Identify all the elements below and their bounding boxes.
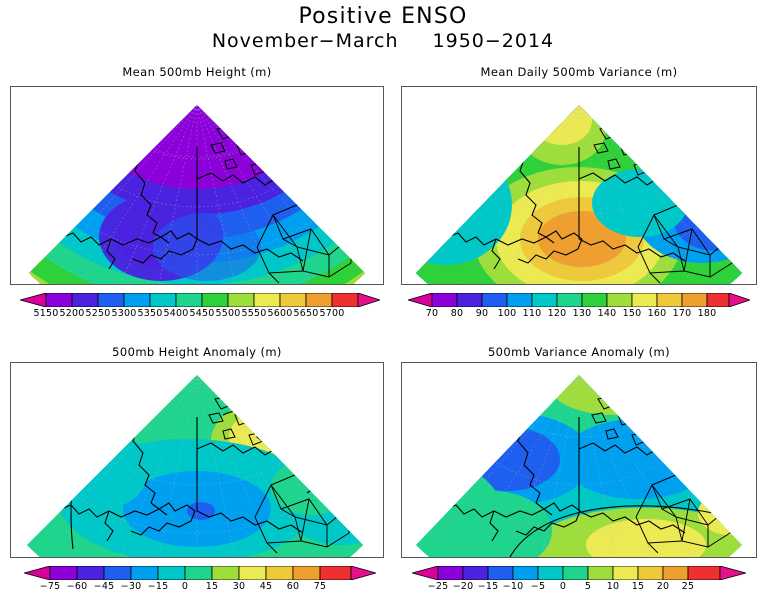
panel-title-mean-daily-500mb-variance: Mean Daily 500mb Variance (m) (401, 65, 757, 79)
cbar-tick: 140 (598, 308, 617, 319)
cbar-tick: 15 (632, 581, 645, 592)
cbar-tick: 60 (287, 581, 300, 592)
cbar-tick: 15 (206, 581, 219, 592)
colorbar-ticklabels-500mb-variance-anomaly: −25 −20 −15 −10 −5 0 5 10 15 20 25 (412, 581, 746, 595)
subtitle-years: 1950−2014 (433, 30, 555, 52)
cbar-tick: −75 (40, 581, 61, 592)
cbar-tick: 100 (498, 308, 517, 319)
cbar-tick: 5500 (216, 308, 241, 319)
cbar-tick: 5200 (60, 308, 85, 319)
panel-title-500mb-variance-anomaly: 500mb Variance Anomaly (m) (401, 345, 757, 359)
cbar-tick: 20 (657, 581, 670, 592)
cbar-tick: −15 (148, 581, 169, 592)
colorbar-swatches (408, 293, 750, 307)
cbar-tick: 180 (698, 308, 717, 319)
cbar-tick: 25 (682, 581, 695, 592)
subtitle-period: November−March (212, 30, 399, 52)
panel-title-mean-500mb-height: Mean 500mb Height (m) (10, 65, 384, 79)
cbar-tick: −30 (121, 581, 142, 592)
cbar-tick: 80 (451, 308, 464, 319)
cbar-tick: 5400 (164, 308, 189, 319)
map-500mb-variance-anomaly (402, 363, 756, 557)
cbar-tick: −5 (531, 581, 545, 592)
map-mean-500mb-height (11, 87, 383, 284)
colorbar-500mb-variance-anomaly: −25 −20 −15 −10 −5 0 5 10 15 20 25 (412, 566, 746, 592)
figure-canvas: Positive ENSO November−March1950−2014 Me… (0, 0, 766, 600)
figure-subtitle: November−March1950−2014 (0, 30, 766, 52)
colorbar-swatches (412, 566, 746, 580)
cbar-tick: 5350 (138, 308, 163, 319)
cbar-tick: 30 (233, 581, 246, 592)
cbar-tick: −60 (67, 581, 88, 592)
colorbar-ticklabels-mean-500mb-height: 5150 5200 5250 5300 5350 5400 5450 5500 … (20, 308, 380, 322)
cbar-tick: 170 (673, 308, 692, 319)
cbar-tick: 45 (260, 581, 273, 592)
map-500mb-height-anomaly (11, 363, 383, 557)
cbar-tick: 160 (648, 308, 667, 319)
panel-title-500mb-height-anomaly: 500mb Height Anomaly (m) (10, 345, 384, 359)
cbar-tick: −10 (503, 581, 524, 592)
cbar-tick: 150 (623, 308, 642, 319)
map-mean-daily-500mb-variance (402, 87, 756, 284)
colorbar-500mb-height-anomaly: −75 −60 −45 −30 −15 0 15 30 45 60 75 (24, 566, 376, 592)
cbar-tick: 5450 (190, 308, 215, 319)
cbar-tick: 5 (585, 581, 591, 592)
cbar-tick: 0 (560, 581, 566, 592)
cbar-tick: 5650 (294, 308, 319, 319)
cbar-tick: −45 (94, 581, 115, 592)
cbar-tick: 130 (573, 308, 592, 319)
panel-mean-daily-500mb-variance[interactable] (401, 86, 757, 285)
cbar-tick: 0 (182, 581, 188, 592)
cbar-tick: 120 (548, 308, 567, 319)
cbar-tick: 70 (426, 308, 439, 319)
cbar-tick: 110 (523, 308, 542, 319)
cbar-tick: −15 (478, 581, 499, 592)
cbar-tick: 10 (607, 581, 620, 592)
cbar-tick: 5550 (242, 308, 267, 319)
cbar-tick: −20 (453, 581, 474, 592)
panel-mean-500mb-height[interactable] (10, 86, 384, 285)
panel-500mb-variance-anomaly[interactable] (401, 362, 757, 558)
panel-500mb-height-anomaly[interactable] (10, 362, 384, 558)
cbar-tick: 5600 (268, 308, 293, 319)
cbar-tick: 5700 (320, 308, 345, 319)
colorbar-ticklabels-mean-daily-500mb-variance: 70 80 90 100 110 120 130 140 150 160 170… (408, 308, 750, 322)
cbar-tick: −25 (428, 581, 449, 592)
colorbar-mean-500mb-height: 5150 5200 5250 5300 5350 5400 5450 5500 … (20, 293, 380, 319)
cbar-tick: 5300 (112, 308, 137, 319)
cbar-tick: 75 (314, 581, 327, 592)
colorbar-ticklabels-500mb-height-anomaly: −75 −60 −45 −30 −15 0 15 30 45 60 75 (24, 581, 376, 595)
cbar-tick: 5150 (34, 308, 59, 319)
colorbar-swatches (20, 293, 380, 307)
cbar-tick: 90 (476, 308, 489, 319)
cbar-tick: 5250 (86, 308, 111, 319)
colorbar-swatches (24, 566, 376, 580)
figure-title: Positive ENSO (0, 4, 766, 29)
colorbar-mean-daily-500mb-variance: 70 80 90 100 110 120 130 140 150 160 170… (408, 293, 750, 319)
